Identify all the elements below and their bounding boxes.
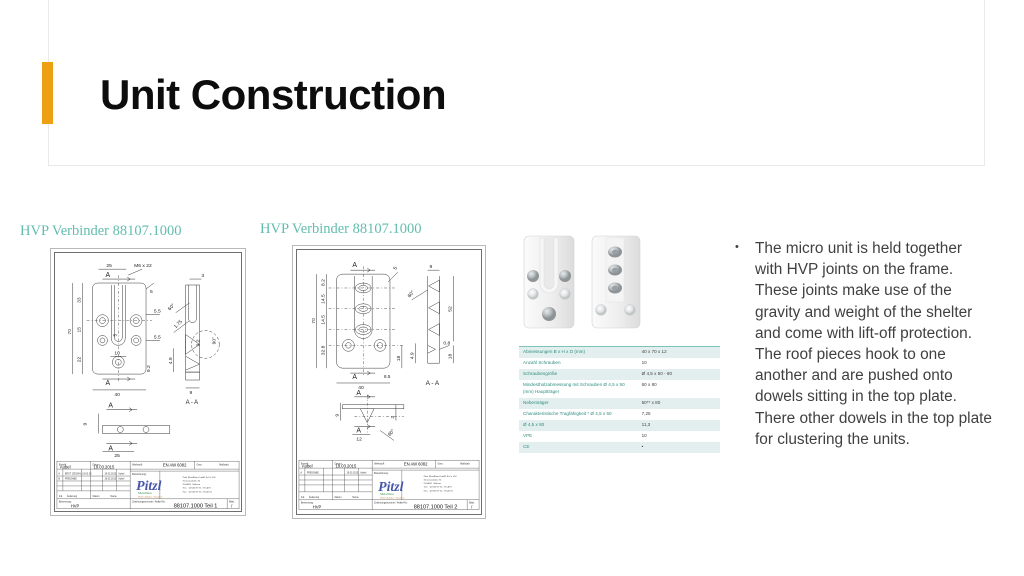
svg-text:10: 10 (114, 350, 120, 356)
svg-text:32.8: 32.8 (321, 345, 327, 355)
svg-text:A: A (352, 374, 357, 381)
bullet-item: The micro unit is held together with HVP… (733, 238, 993, 450)
svg-text:1.75: 1.75 (173, 319, 184, 330)
svg-text:8.5: 8.5 (384, 374, 391, 379)
svg-text:A: A (108, 403, 113, 410)
svg-text:A - A: A - A (186, 400, 199, 406)
svg-text:15: 15 (77, 327, 83, 333)
spec-table-row: Nebenträger50** x 80 (519, 398, 720, 409)
svg-text:5: 5 (112, 333, 118, 336)
svg-text:A: A (356, 427, 361, 434)
spec-table-row: Mindestholzabmessung mit Schrauben Ø 4,5… (519, 380, 720, 398)
technical-drawing-sheet-1[interactable]: A A 25 M6 x 22 5 70 33 15 22 (50, 248, 246, 516)
svg-text:70: 70 (311, 318, 317, 324)
svg-text:18: 18 (396, 355, 402, 361)
svg-text:70: 70 (67, 329, 73, 335)
spec-table-row: VPE10 (519, 431, 720, 442)
svg-text:A: A (105, 272, 110, 279)
svg-text:9.2: 9.2 (195, 339, 201, 346)
spec-value: 10 (640, 358, 720, 369)
spec-table-row: Abmessungen B x H x D (mm)40 x 70 x 12 (519, 347, 720, 359)
svg-text:22: 22 (77, 356, 83, 362)
spec-label: Ø 4,5 x 80 (519, 420, 640, 431)
spec-table-row: CE• (519, 442, 720, 453)
svg-text:5: 5 (150, 289, 153, 295)
spec-value: 60 x 80 (640, 380, 720, 398)
body-text-block: The micro unit is held together with HVP… (733, 238, 993, 450)
svg-text:5.5: 5.5 (154, 334, 161, 340)
svg-text:25: 25 (114, 453, 120, 459)
spec-value: 11,3 (640, 420, 720, 431)
svg-text:18: 18 (447, 353, 453, 359)
connector-plates-image (518, 228, 652, 336)
spec-label: Schraubengröße (519, 369, 640, 380)
drawing-1-graphic: A A 25 M6 x 22 5 70 33 15 22 (51, 249, 245, 515)
svg-text:3: 3 (201, 273, 204, 279)
spec-label: Mindestholzabmessung mit Schrauben Ø 4,5… (519, 380, 640, 398)
spec-value: 40 x 70 x 12 (640, 347, 720, 359)
spec-value: 10 (640, 431, 720, 442)
svg-text:0.8: 0.8 (443, 340, 450, 346)
spec-table-row: Anzahl Schrauben10 (519, 358, 720, 369)
spec-label: Abmessungen B x H x D (mm) (519, 347, 640, 359)
spec-value: 50** x 80 (640, 398, 720, 409)
svg-text:5: 5 (392, 266, 399, 272)
svg-text:M6 x 22: M6 x 22 (134, 263, 152, 269)
drawing-2-graphic: A A 5 70 8.2 14.5 14.5 32.8 18 (293, 246, 485, 518)
spec-table: Abmessungen B x H x D (mm)40 x 70 x 12An… (519, 346, 720, 453)
svg-text:4.9: 4.9 (410, 352, 416, 359)
product-photo (518, 228, 652, 336)
svg-text:9: 9 (335, 414, 341, 417)
spec-table-row: Ø 4,5 x 8011,3 (519, 420, 720, 431)
svg-text:9: 9 (190, 390, 193, 396)
svg-text:12: 12 (356, 436, 362, 442)
spec-value: 7,25 (640, 409, 720, 420)
page-title: Unit Construction (100, 62, 900, 128)
connector-plate-left (524, 236, 574, 328)
svg-text:A - A: A - A (426, 380, 440, 387)
svg-text:A: A (105, 380, 110, 387)
technical-drawing-sheet-2[interactable]: A A 5 70 8.2 14.5 14.5 32.8 18 (292, 245, 486, 519)
svg-text:A: A (356, 390, 361, 397)
svg-text:40: 40 (114, 392, 120, 398)
spec-value: Ø 4,5 x 50 - 80 (640, 369, 720, 380)
connector-plate-right (592, 236, 640, 328)
svg-text:8.2: 8.2 (321, 279, 327, 286)
svg-text:60°: 60° (167, 303, 177, 313)
svg-text:3: 3 (390, 416, 396, 419)
svg-text:33: 33 (77, 297, 83, 303)
spec-table-row: Charakteristische Tragfähigkeit * Ø 4,5 … (519, 409, 720, 420)
spec-label: VPE (519, 431, 640, 442)
svg-text:52: 52 (447, 306, 453, 312)
spec-label: Charakteristische Tragfähigkeit * Ø 4,5 … (519, 409, 640, 420)
spec-label: Nebenträger (519, 398, 640, 409)
spec-label: CE (519, 442, 640, 453)
svg-text:5.5: 5.5 (154, 309, 161, 315)
figure-caption-2: HVP Verbinder 88107.1000 (260, 221, 422, 238)
svg-text:4.9: 4.9 (168, 357, 174, 364)
svg-text:25: 25 (106, 263, 112, 269)
svg-text:9: 9 (430, 264, 433, 270)
svg-text:14.5: 14.5 (321, 315, 327, 325)
slide: Unit Construction HVP Verbinder 88107.10… (0, 0, 1024, 576)
title-accent-bar (42, 62, 53, 124)
spec-table-row: SchraubengrößeØ 4,5 x 50 - 80 (519, 369, 720, 380)
svg-text:60°: 60° (387, 428, 396, 438)
svg-text:9: 9 (83, 423, 89, 426)
spec-label: Anzahl Schrauben (519, 358, 640, 369)
svg-text:90°: 90° (211, 337, 217, 344)
figure-caption-1: HVP Verbinder 88107.1000 (20, 223, 182, 240)
spec-table-body: Abmessungen B x H x D (mm)40 x 70 x 12An… (519, 347, 720, 453)
svg-text:A: A (352, 262, 357, 269)
spec-value: • (640, 442, 720, 453)
svg-text:14.5: 14.5 (321, 294, 327, 304)
bullet-list: The micro unit is held together with HVP… (733, 238, 993, 450)
svg-text:9.2: 9.2 (146, 365, 152, 372)
